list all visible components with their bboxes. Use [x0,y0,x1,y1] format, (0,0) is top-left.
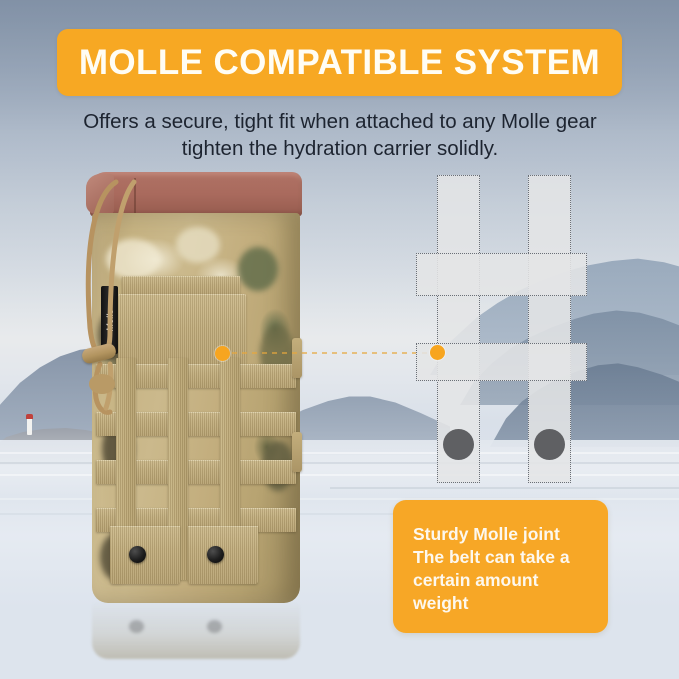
product-image-pouch: Molle [60,168,320,638]
page-title: MOLLE COMPATIBLE SYSTEM [79,45,600,80]
lighthouse-lamp-icon [26,414,33,419]
pouch-snap-button-right [207,546,224,563]
reflection-snap-right [207,620,222,633]
header-banner: MOLLE COMPATIBLE SYSTEM [57,29,622,96]
diagram-highlight-dot [430,345,445,360]
pouch-side-tab-lower [292,432,302,472]
pouch-reflection [92,603,300,659]
pouch-highlight-dot [215,346,230,361]
callout-box: Sturdy Molle joint The belt can take a c… [393,500,608,633]
molle-webbing-diagram [410,170,596,484]
pouch-side-tab-upper [292,338,302,378]
pouch-rolled-top [90,172,302,217]
subtitle-text: Offers a secure, tight fit when attached… [60,108,620,163]
pouch-snap-button-left [129,546,146,563]
callout-text: Sturdy Molle joint The belt can take a c… [413,523,595,615]
reflection-snap-left [129,620,144,633]
pouch-top-left-lip [86,174,114,214]
diagram-horizontal-strap-top [416,253,587,296]
callout-connector-line [232,352,438,354]
infographic-canvas: MOLLE COMPATIBLE SYSTEM Offers a secure,… [0,0,679,679]
diagram-snap-dot-right [534,429,565,460]
diagram-snap-dot-left [443,429,474,460]
lighthouse-icon [27,418,32,435]
